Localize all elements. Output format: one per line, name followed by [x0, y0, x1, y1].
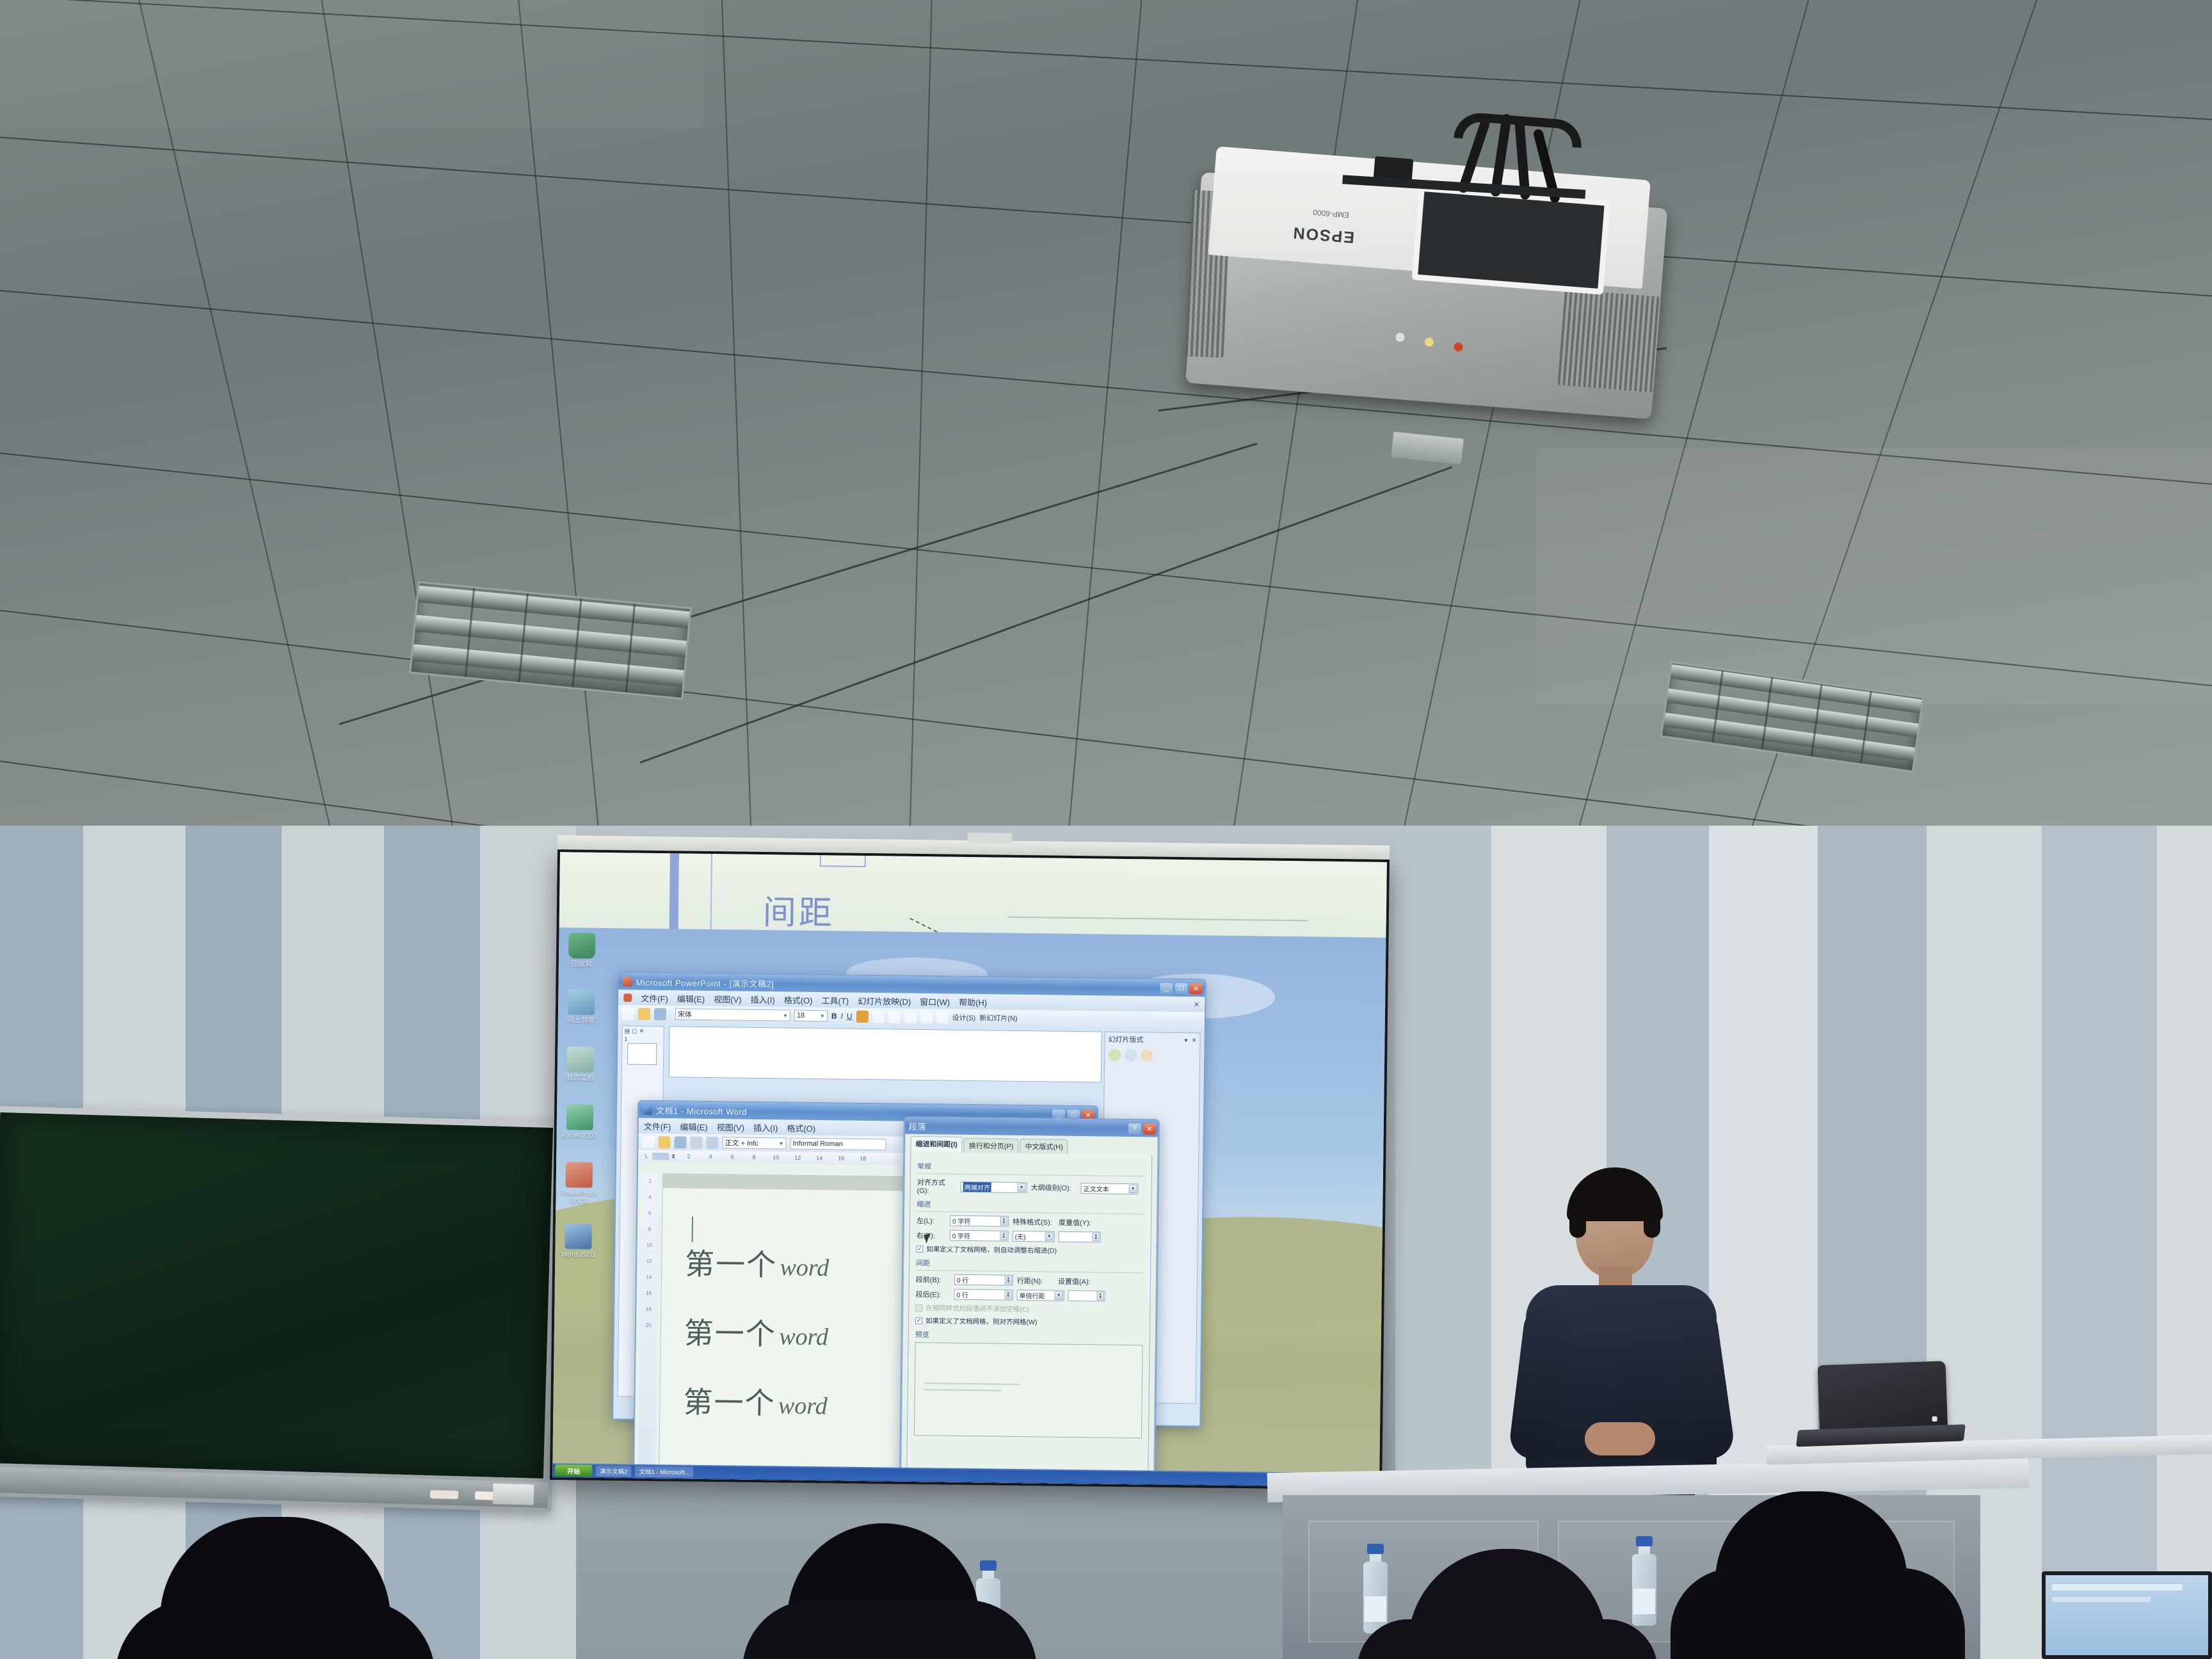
word-menu-format[interactable]: 格式(O)	[787, 1121, 815, 1134]
spinner-up-down-icon[interactable]: ▲▼	[1005, 1291, 1012, 1299]
audience-shoulders-silhouette	[742, 1600, 1037, 1659]
ppt-menu-insert[interactable]: 插入(I)	[750, 993, 775, 1005]
ppt-menu-view[interactable]: 视图(V)	[714, 993, 742, 1006]
auto-adjust-right-indent-row[interactable]: ✓ 如果定义了文档网格，则自动调整右缩进(D)	[916, 1244, 1144, 1256]
word-app-icon	[643, 1105, 652, 1114]
alignment-label: 对齐方式(G):	[917, 1177, 957, 1196]
slide-top-bracket	[820, 854, 866, 867]
spinner-up-down-icon[interactable]: ▲▼	[1000, 1217, 1007, 1226]
taskbar-item-powerpoint[interactable]: 演示文稿2	[596, 1465, 632, 1477]
spacing-group-label: 间距	[916, 1258, 1144, 1270]
word-menu-file[interactable]: 文件(F)	[644, 1119, 671, 1132]
ppt-menu-tools[interactable]: 工具(T)	[821, 994, 849, 1007]
powerpoint-maximize-button[interactable]: □	[1174, 982, 1187, 993]
ruler-tick: 6	[721, 1153, 743, 1160]
ceiling-projector: EPSON EMP-6000	[1185, 145, 1670, 424]
chevron-down-icon[interactable]: ▼	[1183, 1038, 1189, 1043]
windows-desktop: 回收站 网上邻居 我的文档 Excel 2003 PowerPoint 2003	[552, 927, 1386, 1487]
outline-level-label: 大纲级别(O):	[1031, 1182, 1077, 1193]
water-bottle	[1632, 1536, 1656, 1626]
ppt-increase-indent-button[interactable]	[936, 1011, 948, 1023]
spacing-at-input[interactable]: ▲▼	[1068, 1290, 1105, 1302]
ppt-menubar-close-doc[interactable]: ✕	[1194, 1000, 1199, 1009]
ruler-tick: 10	[765, 1154, 787, 1160]
ruler-tick: 18	[852, 1155, 874, 1162]
spinner-up-down-icon[interactable]: ▲▼	[1000, 1232, 1007, 1240]
indent-marker[interactable]: ⧗	[669, 1153, 678, 1160]
general-group-label: 常规	[917, 1161, 1145, 1174]
indent-by-label: 度量值(Y):	[1059, 1217, 1101, 1228]
word-menu-view[interactable]: 视图(V)	[717, 1121, 745, 1134]
ppt-underline-button[interactable]: U	[847, 1012, 853, 1021]
powerpoint-close-button[interactable]: ✕	[1189, 983, 1202, 994]
snap-to-grid-label: 如果定义了文档网格，则对齐网格(W)	[926, 1316, 1038, 1327]
word-print-icon[interactable]	[690, 1136, 702, 1148]
ppt-font-size-combo[interactable]: 18 ▼	[794, 1010, 828, 1022]
presenter-hands	[1585, 1422, 1655, 1455]
desktop-icon-excel-2003[interactable]: Excel 2003	[562, 1104, 598, 1140]
excel-icon	[566, 1104, 593, 1130]
recycle-bin-icon	[568, 933, 595, 959]
chevron-down-icon[interactable]: ▼	[1055, 1292, 1063, 1300]
ceiling-vent-small	[1391, 431, 1464, 464]
presenter-laptop[interactable]	[1791, 1360, 1967, 1455]
screen-pull-handle	[967, 833, 1012, 844]
word-menu-edit[interactable]: 编辑(E)	[680, 1120, 708, 1133]
alignment-select[interactable]: 两端对齐 ▼	[961, 1181, 1027, 1192]
powerpoint-slide-canvas[interactable]	[669, 1026, 1102, 1082]
ruler-tick: 2	[678, 1153, 700, 1159]
indent-group-label: 缩进	[917, 1199, 1144, 1212]
dialog-close-button[interactable]: ✕	[1143, 1123, 1156, 1134]
word-open-icon[interactable]	[658, 1136, 670, 1148]
ruler-tick: 8	[743, 1154, 765, 1160]
powerpoint-icon	[566, 1162, 593, 1188]
tab-indents-and-spacing[interactable]: 缩进和间距(I)	[910, 1136, 963, 1153]
text-cursor	[692, 1217, 693, 1242]
word-style-combo[interactable]: 正文 + Infc ▼	[722, 1137, 786, 1149]
chevron-down-icon[interactable]: ▼	[1045, 1232, 1054, 1240]
ppt-design-button[interactable]: 设计(S)	[952, 1013, 975, 1023]
spinner-up-down-icon[interactable]: ▲▼	[1093, 1233, 1100, 1241]
indent-left-label: 左(L):	[917, 1215, 946, 1226]
indent-left-input[interactable]: 0 字符 ▲▼	[950, 1215, 1009, 1227]
ppt-menu-file[interactable]: 文件(F)	[641, 991, 668, 1004]
no-space-same-style-label: 在相同样式的段落间不添加空格(C)	[926, 1303, 1029, 1314]
student-monitor	[2042, 1571, 2212, 1659]
ruler-tick: 14	[808, 1155, 830, 1161]
ppt-numbering-button[interactable]	[888, 1011, 900, 1023]
chevron-down-icon: ▼	[820, 1013, 825, 1019]
ppt-new-slide-button[interactable]: 新幻灯片(N)	[979, 1013, 1017, 1023]
projected-desktop: 间距 回收站	[552, 852, 1387, 1487]
space-before-input[interactable]: 0 行 ▲▼	[954, 1274, 1013, 1286]
desktop-icon-network-places[interactable]: 网上邻居	[563, 989, 600, 1025]
task-pane-title: 幻灯片版式	[1108, 1034, 1143, 1045]
task-forward-icon[interactable]	[1125, 1049, 1137, 1061]
dialog-help-button[interactable]: ?	[1128, 1123, 1141, 1134]
desktop-icon-powerpoint-2003[interactable]: PowerPoint 2003	[561, 1162, 597, 1205]
desktop-icon-recycle-bin[interactable]: 回收站	[564, 933, 600, 968]
paragraph-dialog[interactable]: 段落 ? ✕ 缩进和间距(I) 换行和分页(P) 中文版式(H)	[899, 1116, 1160, 1487]
slide-number: 1	[622, 1036, 663, 1043]
task-pane-close-icon[interactable]: ✕	[1192, 1037, 1197, 1044]
presenter-hair-top	[1567, 1167, 1663, 1221]
auto-adjust-right-indent-label: 如果定义了文档网格，则自动调整右缩进(D)	[926, 1244, 1057, 1255]
ppt-menu-help[interactable]: 帮助(H)	[959, 995, 987, 1008]
line-spacing-label: 行距(N):	[1017, 1275, 1054, 1286]
checkbox-unchecked-disabled-icon	[915, 1304, 922, 1311]
powerpoint-app-icon	[622, 977, 632, 986]
ceiling-light-fixture-left	[409, 581, 692, 700]
ruler-tick: 12	[787, 1155, 808, 1161]
desktop-icon-my-documents[interactable]: 我的文档	[563, 1046, 599, 1082]
spinner-up-down-icon[interactable]: ▲▼	[1097, 1292, 1104, 1300]
network-places-icon	[568, 989, 595, 1015]
checkbox-checked-icon[interactable]: ✓	[915, 1317, 922, 1324]
indents-spacing-panel: 常规 对齐方式(G): 两端对齐 ▼ 大纲级别(O): 正文文本	[906, 1152, 1153, 1487]
projection-screen: 间距 回收站	[550, 849, 1390, 1490]
chevron-down-icon[interactable]: ▼	[1018, 1183, 1026, 1191]
indent-right-input[interactable]: 0 字符 ▲▼	[950, 1230, 1009, 1242]
word-font-combo[interactable]: Informal Roman	[790, 1138, 886, 1151]
paragraph-dialog-tabs[interactable]: 缩进和间距(I) 换行和分页(P) 中文版式(H)	[910, 1138, 1152, 1155]
word-vertical-ruler: 246810 1214161820	[638, 1173, 659, 1470]
chevron-down-icon: ▼	[779, 1141, 784, 1146]
ceiling-grid: EPSON EMP-6000	[0, 0, 2212, 870]
taskbar-item-word[interactable]: 文档1 - Microsoft...	[635, 1466, 693, 1477]
slide-thumbnail[interactable]	[627, 1043, 657, 1065]
pane-close-icon[interactable]: ✕	[639, 1028, 645, 1035]
ruler-tick: 16	[830, 1155, 852, 1161]
ppt-bold-button[interactable]: B	[831, 1011, 837, 1020]
no-space-same-style-row: 在相同样式的段落间不添加空格(C)	[915, 1303, 1143, 1315]
paragraph-dialog-title: 段落	[909, 1119, 1125, 1134]
tab-chinese-typography[interactable]: 中文版式(H)	[1020, 1139, 1068, 1154]
classroom-photo-scene: EPSON EMP-6000	[0, 0, 2212, 1659]
task-home-icon[interactable]	[1141, 1049, 1153, 1061]
ppt-italic-button[interactable]: I	[841, 1012, 844, 1021]
snap-to-grid-row[interactable]: ✓ 如果定义了文档网格，则对齐网格(W)	[915, 1316, 1143, 1328]
space-after-label: 段后(E):	[916, 1288, 950, 1299]
space-after-input[interactable]: 0 行 ▲▼	[954, 1289, 1013, 1301]
ruler-tick: 4	[700, 1153, 721, 1160]
ppt-menu-edit[interactable]: 编辑(E)	[677, 992, 705, 1005]
indent-by-input[interactable]: ▲▼	[1059, 1231, 1101, 1243]
slides-tab[interactable]: ▢	[632, 1028, 637, 1035]
special-format-label: 特殊格式(S):	[1013, 1216, 1055, 1227]
laptop-lid	[1818, 1361, 1948, 1433]
chevron-down-icon[interactable]: ▼	[1129, 1185, 1137, 1193]
laptop-logo-dot	[1932, 1416, 1937, 1422]
chevron-down-icon: ▼	[783, 1013, 788, 1018]
ppt-menu-format[interactable]: 格式(O)	[784, 993, 813, 1006]
checkbox-checked-icon[interactable]: ✓	[916, 1246, 923, 1253]
word-save-icon[interactable]	[674, 1136, 686, 1148]
spinner-up-down-icon[interactable]: ▲▼	[1005, 1276, 1012, 1285]
ppt-font-name-combo[interactable]: 宋体 ▼	[675, 1008, 790, 1021]
outline-level-select[interactable]: 正文文本 ▼	[1081, 1183, 1139, 1194]
ppt-bullets-button[interactable]	[872, 1011, 884, 1023]
word-text-line: 第一个 word	[685, 1241, 829, 1285]
ppt-menu-window[interactable]: 窗口(W)	[920, 995, 950, 1008]
word-icon	[565, 1223, 591, 1249]
audience-shoulders-silhouette	[1671, 1568, 1965, 1659]
tab-stop-selector[interactable]: L	[641, 1153, 652, 1159]
blackboard	[0, 1106, 562, 1512]
desktop-icon-word-2003[interactable]: Word 2003	[560, 1223, 597, 1259]
task-back-icon[interactable]	[1109, 1049, 1121, 1061]
audience-shoulders-silhouette	[115, 1600, 435, 1659]
line-spacing-select[interactable]: 单倍行距 ▼	[1017, 1290, 1064, 1301]
ppt-decrease-indent-button[interactable]	[920, 1011, 932, 1023]
my-documents-icon	[567, 1046, 594, 1073]
powerpoint-menu-icon	[623, 993, 632, 1002]
outline-tab[interactable]: ▤	[625, 1027, 630, 1034]
new-file-icon[interactable]	[622, 1007, 634, 1020]
paragraph-dialog-body: 缩进和间距(I) 换行和分页(P) 中文版式(H) 常规 对齐方式(G):	[901, 1134, 1158, 1487]
word-menu-insert[interactable]: 插入(I)	[753, 1121, 778, 1133]
word-text-line: 第一个 word	[683, 1379, 828, 1423]
word-text-line: 第一个 word	[684, 1310, 828, 1354]
open-file-icon[interactable]	[638, 1007, 650, 1020]
powerpoint-minimize-button[interactable]: _	[1160, 982, 1173, 993]
ppt-font-grow-button[interactable]	[904, 1011, 916, 1023]
start-button[interactable]: 开始	[555, 1464, 592, 1477]
word-new-icon[interactable]	[642, 1135, 654, 1148]
audience-shoulders-silhouette	[1357, 1619, 1658, 1659]
spacing-at-label: 设置值(A):	[1058, 1276, 1100, 1286]
special-format-select[interactable]: (无) ▼	[1013, 1231, 1055, 1242]
tab-line-and-page-breaks[interactable]: 换行和分页(P)	[964, 1138, 1019, 1153]
ppt-align-button[interactable]	[856, 1010, 868, 1022]
slide-title: 间距	[762, 885, 835, 934]
save-file-icon[interactable]	[654, 1007, 666, 1020]
ppt-menu-slideshow[interactable]: 幻灯片放映(D)	[858, 994, 911, 1007]
water-bottle	[1363, 1544, 1388, 1633]
word-style-icon	[706, 1136, 718, 1148]
eraser	[493, 1484, 534, 1505]
space-before-label: 段前(B):	[916, 1274, 950, 1285]
preview-group-label: 预览	[915, 1329, 1143, 1342]
paragraph-preview-box	[914, 1342, 1143, 1438]
